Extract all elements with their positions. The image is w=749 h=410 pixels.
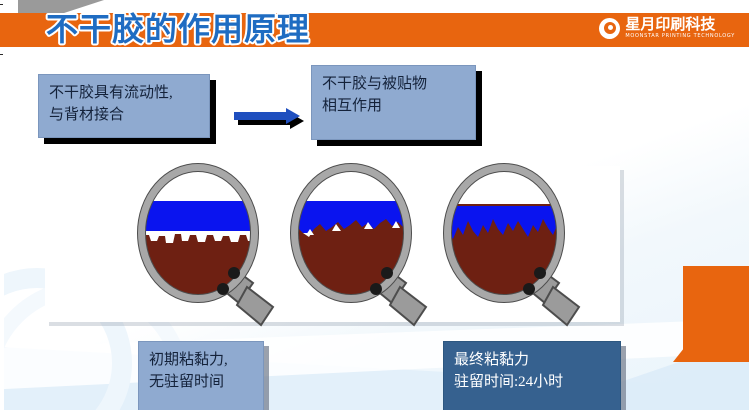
page-title: 不干胶的作用原理 (44, 7, 464, 53)
label-final-line2: 驻留时间:24小时 (454, 372, 610, 394)
label-final-tack: 最终粘黏力 驻留时间:24小时 (443, 341, 621, 410)
label-initial-line1: 初期粘黏力, (149, 350, 253, 372)
brand-name-en: MOONSTAR PRINTING TECHNOLOGY (625, 34, 735, 39)
callout-adhesive-interaction: 不干胶与被贴物 相互作用 (311, 65, 476, 140)
moon-star-icon (599, 18, 620, 39)
magnifier-icon-stage-final (441, 161, 591, 341)
slide-canvas: 不干胶的作用原理 星月印刷科技 MOONSTAR PRINTING TECHNO… (0, 0, 749, 410)
diagram-panel (45, 166, 620, 322)
callout-interaction-line2: 相互作用 (322, 96, 465, 118)
magnifier-icon-stage-middle (288, 161, 438, 341)
callout-flow-line2: 与背材接合 (49, 105, 199, 127)
callout-flow-line1: 不干胶具有流动性, (49, 83, 199, 105)
label-final-line1: 最终粘黏力 (454, 350, 610, 372)
callout-adhesive-flow: 不干胶具有流动性, 与背材接合 (38, 74, 210, 138)
callout-interaction-line1: 不干胶与被贴物 (322, 74, 465, 96)
svg-text:不干胶的作用原理: 不干胶的作用原理 (46, 10, 310, 48)
label-initial-line2: 无驻留时间 (149, 372, 253, 394)
right-arrow-icon (234, 108, 316, 126)
magnifier-icon-stage-initial (135, 161, 285, 341)
brand-logo: 星月印刷科技 MOONSTAR PRINTING TECHNOLOGY (599, 17, 735, 39)
brand-logo-text: 星月印刷科技 MOONSTAR PRINTING TECHNOLOGY (625, 17, 735, 39)
left-margin-rule (0, 0, 4, 410)
corner-orange-triangle (673, 266, 749, 362)
brand-name-cn: 星月印刷科技 (625, 17, 735, 32)
label-initial-tack: 初期粘黏力, 无驻留时间 (138, 341, 264, 410)
